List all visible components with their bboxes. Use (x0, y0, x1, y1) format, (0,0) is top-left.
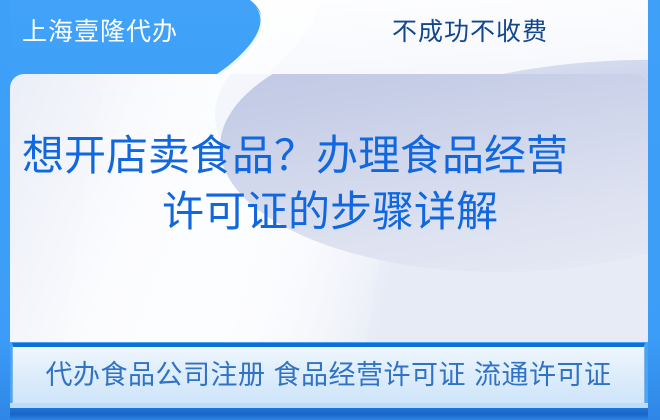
title-line-2: 许可证的步骤详解 (10, 184, 650, 240)
slogan-text: 不成功不收费 (392, 17, 548, 47)
keywords-bar: 代办食品公司注册 食品经营许可证 流通许可证 (12, 343, 645, 403)
keywords-text: 代办食品公司注册 食品经营许可证 流通许可证 (45, 358, 611, 392)
brand-name: 上海壹隆代办 (22, 17, 178, 47)
banner-header: 上海壹隆代办 不成功不收费 (0, 0, 660, 74)
right-edge-accent (648, 0, 660, 420)
promo-banner: 上海壹隆代办 不成功不收费 想开店卖食品？办理食品经营 许可证的步骤详解 代办食… (0, 0, 660, 420)
title-line-1: 想开店卖食品？办理食品经营 (10, 128, 650, 184)
bottom-strip (0, 408, 660, 420)
left-edge-accent (0, 0, 10, 420)
page-title: 想开店卖食品？办理食品经营 许可证的步骤详解 (10, 128, 650, 240)
